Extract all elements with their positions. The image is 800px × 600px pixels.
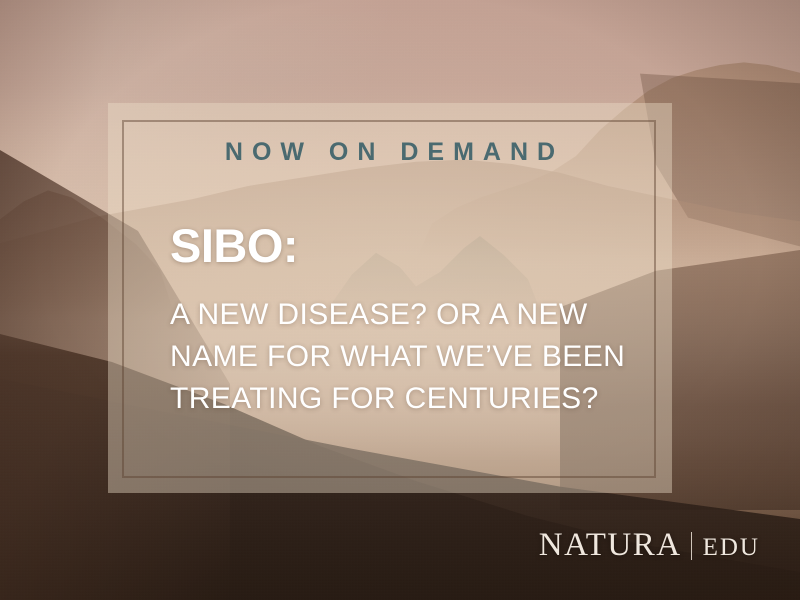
brand-logo: NATURA EDU [539, 527, 760, 564]
promo-banner: NOW ON DEMAND SIBO: A NEW DISEASE? OR A … [0, 0, 800, 600]
logo-secondary-text: EDU [703, 534, 760, 562]
subheading-line-3: TREATING FOR CENTURIES? [170, 378, 640, 420]
subheading-line-2: NAME FOR WHAT WE’VE BEEN [170, 336, 640, 378]
page-title: SIBO: [170, 222, 298, 269]
eyebrow-label: NOW ON DEMAND [108, 140, 672, 165]
logo-primary-text: NATURA [539, 527, 682, 564]
subheading: A NEW DISEASE? OR A NEW NAME FOR WHAT WE… [170, 294, 640, 420]
logo-divider-rule [691, 532, 692, 560]
subheading-line-1: A NEW DISEASE? OR A NEW [170, 294, 640, 336]
